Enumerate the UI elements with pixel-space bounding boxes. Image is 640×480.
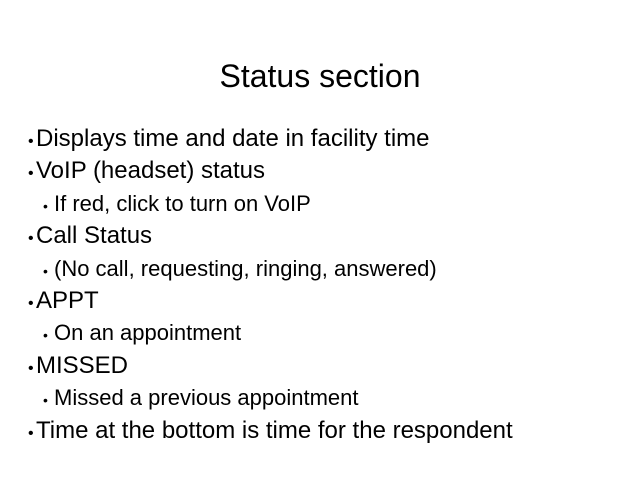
slide-title-area: Status section [0, 36, 640, 117]
bullet-point-icon: • [43, 386, 51, 415]
bullet-item: •Time at the bottom is time for the resp… [28, 416, 620, 448]
bullet-point-icon: • [28, 419, 36, 448]
bullet-item-label: (No call, requesting, ringing, answered) [54, 256, 437, 281]
bullet-item: •(No call, requesting, ringing, answered… [28, 254, 620, 286]
bullet-item-label: Displays time and date in facility time [36, 125, 430, 152]
bullet-point-icon: • [28, 224, 36, 253]
bullet-point-icon: • [28, 127, 36, 156]
bullet-item-label: On an appointment [54, 320, 241, 345]
slide-canvas: Status section •Displays time and date i… [0, 0, 640, 480]
bullet-item: •Displays time and date in facility time [28, 124, 620, 156]
bullet-item: •APPT [28, 286, 620, 318]
bullet-item: •If red, click to turn on VoIP [28, 189, 620, 221]
bullet-item: •MISSED [28, 351, 620, 383]
bullet-item-label: If red, click to turn on VoIP [54, 191, 311, 216]
slide-body-bullet-list: •Displays time and date in facility time… [28, 124, 620, 448]
bullet-item-label: Time at the bottom is time for the respo… [36, 417, 513, 444]
bullet-item-label: VoIP (headset) status [36, 157, 265, 184]
bullet-item-label: Call Status [36, 222, 152, 249]
bullet-item: •Missed a previous appointment [28, 383, 620, 415]
bullet-item: •VoIP (headset) status [28, 156, 620, 188]
bullet-point-icon: • [43, 321, 51, 350]
bullet-point-icon: • [43, 257, 51, 286]
bullet-point-icon: • [28, 289, 36, 318]
page-title: Status section [220, 57, 421, 95]
bullet-item-label: Missed a previous appointment [54, 385, 359, 410]
bullet-point-icon: • [28, 354, 36, 383]
bullet-point-icon: • [28, 159, 36, 188]
bullet-item-label: APPT [36, 287, 99, 314]
bullet-item: •On an appointment [28, 318, 620, 350]
bullet-item-label: MISSED [36, 352, 128, 379]
bullet-point-icon: • [43, 192, 51, 221]
bullet-item: •Call Status [28, 221, 620, 253]
